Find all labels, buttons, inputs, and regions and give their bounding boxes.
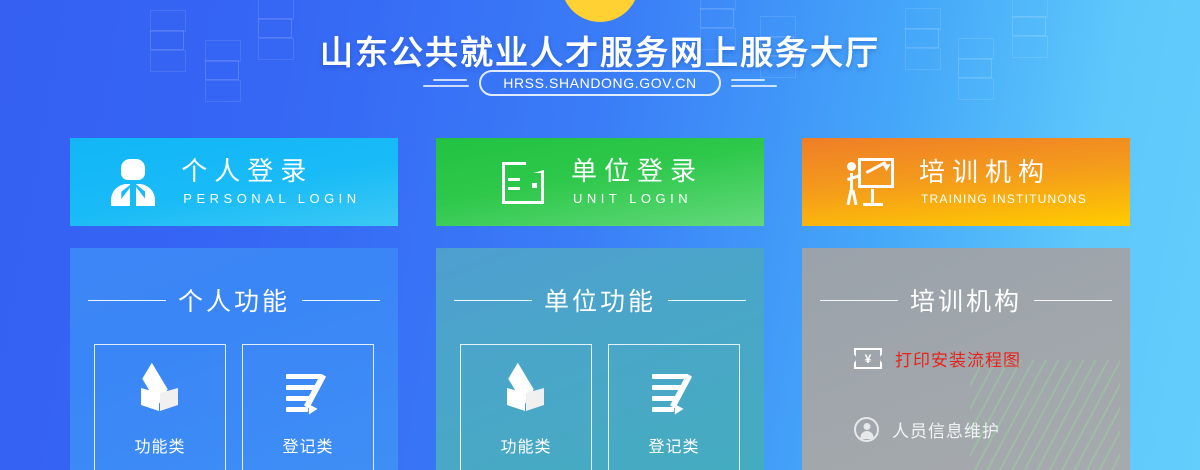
register-pen-icon [284, 369, 332, 417]
shield-logo-icon [561, 0, 639, 22]
personal-login-label-en: PERSONAL LOGIN [181, 192, 360, 205]
function-panel-row: 个人功能 功能类 13 登记类 4 单位功能 [0, 248, 1200, 470]
site-url: HRSS.SHANDONG.GOV.CN [479, 70, 721, 96]
personal-login-card[interactable]: 个人登录 PERSONAL LOGIN [70, 138, 398, 226]
personal-panel-title: 个人功能 [70, 282, 398, 318]
unit-tile-register-label: 登记类 [648, 433, 699, 457]
unit-login-label-cn: 单位登录 [571, 159, 703, 185]
training-board-icon [845, 156, 897, 208]
training-login-card[interactable]: 培训机构 TRAINING INSTITUNONS [802, 138, 1130, 226]
training-login-label-cn: 培训机构 [919, 160, 1087, 186]
personal-login-text: 个人登录 PERSONAL LOGIN [181, 159, 360, 205]
unit-tile-register[interactable]: 登记类 4 [608, 344, 740, 470]
training-login-text: 培训机构 TRAINING INSTITUNONS [919, 160, 1087, 205]
unit-tiles: 功能类 13 登记类 4 [436, 344, 764, 470]
login-card-row: 个人登录 PERSONAL LOGIN 单位登录 UNIT LOGIN 培训机构… [0, 138, 1200, 226]
dash-decoration-right [731, 79, 777, 87]
training-panel-title-text: 培训机构 [910, 282, 1022, 318]
training-menu: ¥ 打印安装流程图 人员信息维护 [802, 318, 1130, 442]
unit-function-panel: 单位功能 功能类 13 登记类 4 [436, 248, 764, 470]
page-title: 山东公共就业人才服务网上服务大厅 [0, 26, 1200, 74]
personal-function-panel: 个人功能 功能类 13 登记类 4 [70, 248, 398, 470]
unit-login-text: 单位登录 UNIT LOGIN [571, 159, 703, 205]
training-menu-item-print-flowchart-label: 打印安装流程图 [895, 346, 1021, 371]
title-line-right [668, 300, 746, 301]
personal-login-label-cn: 个人登录 [181, 159, 360, 185]
title-line-left [88, 300, 166, 301]
personal-tile-register[interactable]: 登记类 4 [242, 344, 374, 470]
personal-tile-register-label: 登记类 [282, 433, 333, 457]
personal-panel-title-text: 个人功能 [178, 282, 290, 318]
training-menu-item-print-flowchart[interactable]: ¥ 打印安装流程图 [854, 346, 1130, 371]
unit-panel-title: 单位功能 [436, 282, 764, 318]
training-login-label-en: TRAINING INSTITUNONS [919, 193, 1087, 205]
person-icon [107, 156, 159, 208]
ticket-icon: ¥ [854, 348, 882, 369]
user-circle-icon [854, 417, 879, 442]
dash-decoration-left [423, 79, 469, 87]
personal-tile-function-label: 功能类 [134, 433, 185, 457]
unit-panel-title-text: 单位功能 [544, 282, 656, 318]
training-menu-item-staff-info[interactable]: 人员信息维护 [854, 417, 1130, 442]
building-icon [497, 156, 549, 208]
training-function-panel: 培训机构 ¥ 打印安装流程图 人员信息维护 [802, 248, 1130, 470]
site-url-row: HRSS.SHANDONG.GOV.CN [0, 70, 1200, 96]
training-menu-item-staff-info-label: 人员信息维护 [892, 417, 1000, 442]
cube-icon [136, 369, 184, 417]
personal-tiles: 功能类 13 登记类 4 [70, 344, 398, 470]
register-pen-icon [650, 369, 698, 417]
title-line-right [1034, 300, 1112, 301]
title-line-left [454, 300, 532, 301]
personal-tile-function[interactable]: 功能类 13 [94, 344, 226, 470]
unit-tile-function[interactable]: 功能类 13 [460, 344, 592, 470]
training-panel-title: 培训机构 [802, 282, 1130, 318]
unit-login-label-en: UNIT LOGIN [571, 192, 703, 205]
cube-icon [502, 369, 550, 417]
page-header: 山东公共就业人才服务网上服务大厅 HRSS.SHANDONG.GOV.CN [0, 0, 1200, 125]
title-line-left [820, 300, 898, 301]
title-line-right [302, 300, 380, 301]
unit-tile-function-label: 功能类 [500, 433, 551, 457]
unit-login-card[interactable]: 单位登录 UNIT LOGIN [436, 138, 764, 226]
